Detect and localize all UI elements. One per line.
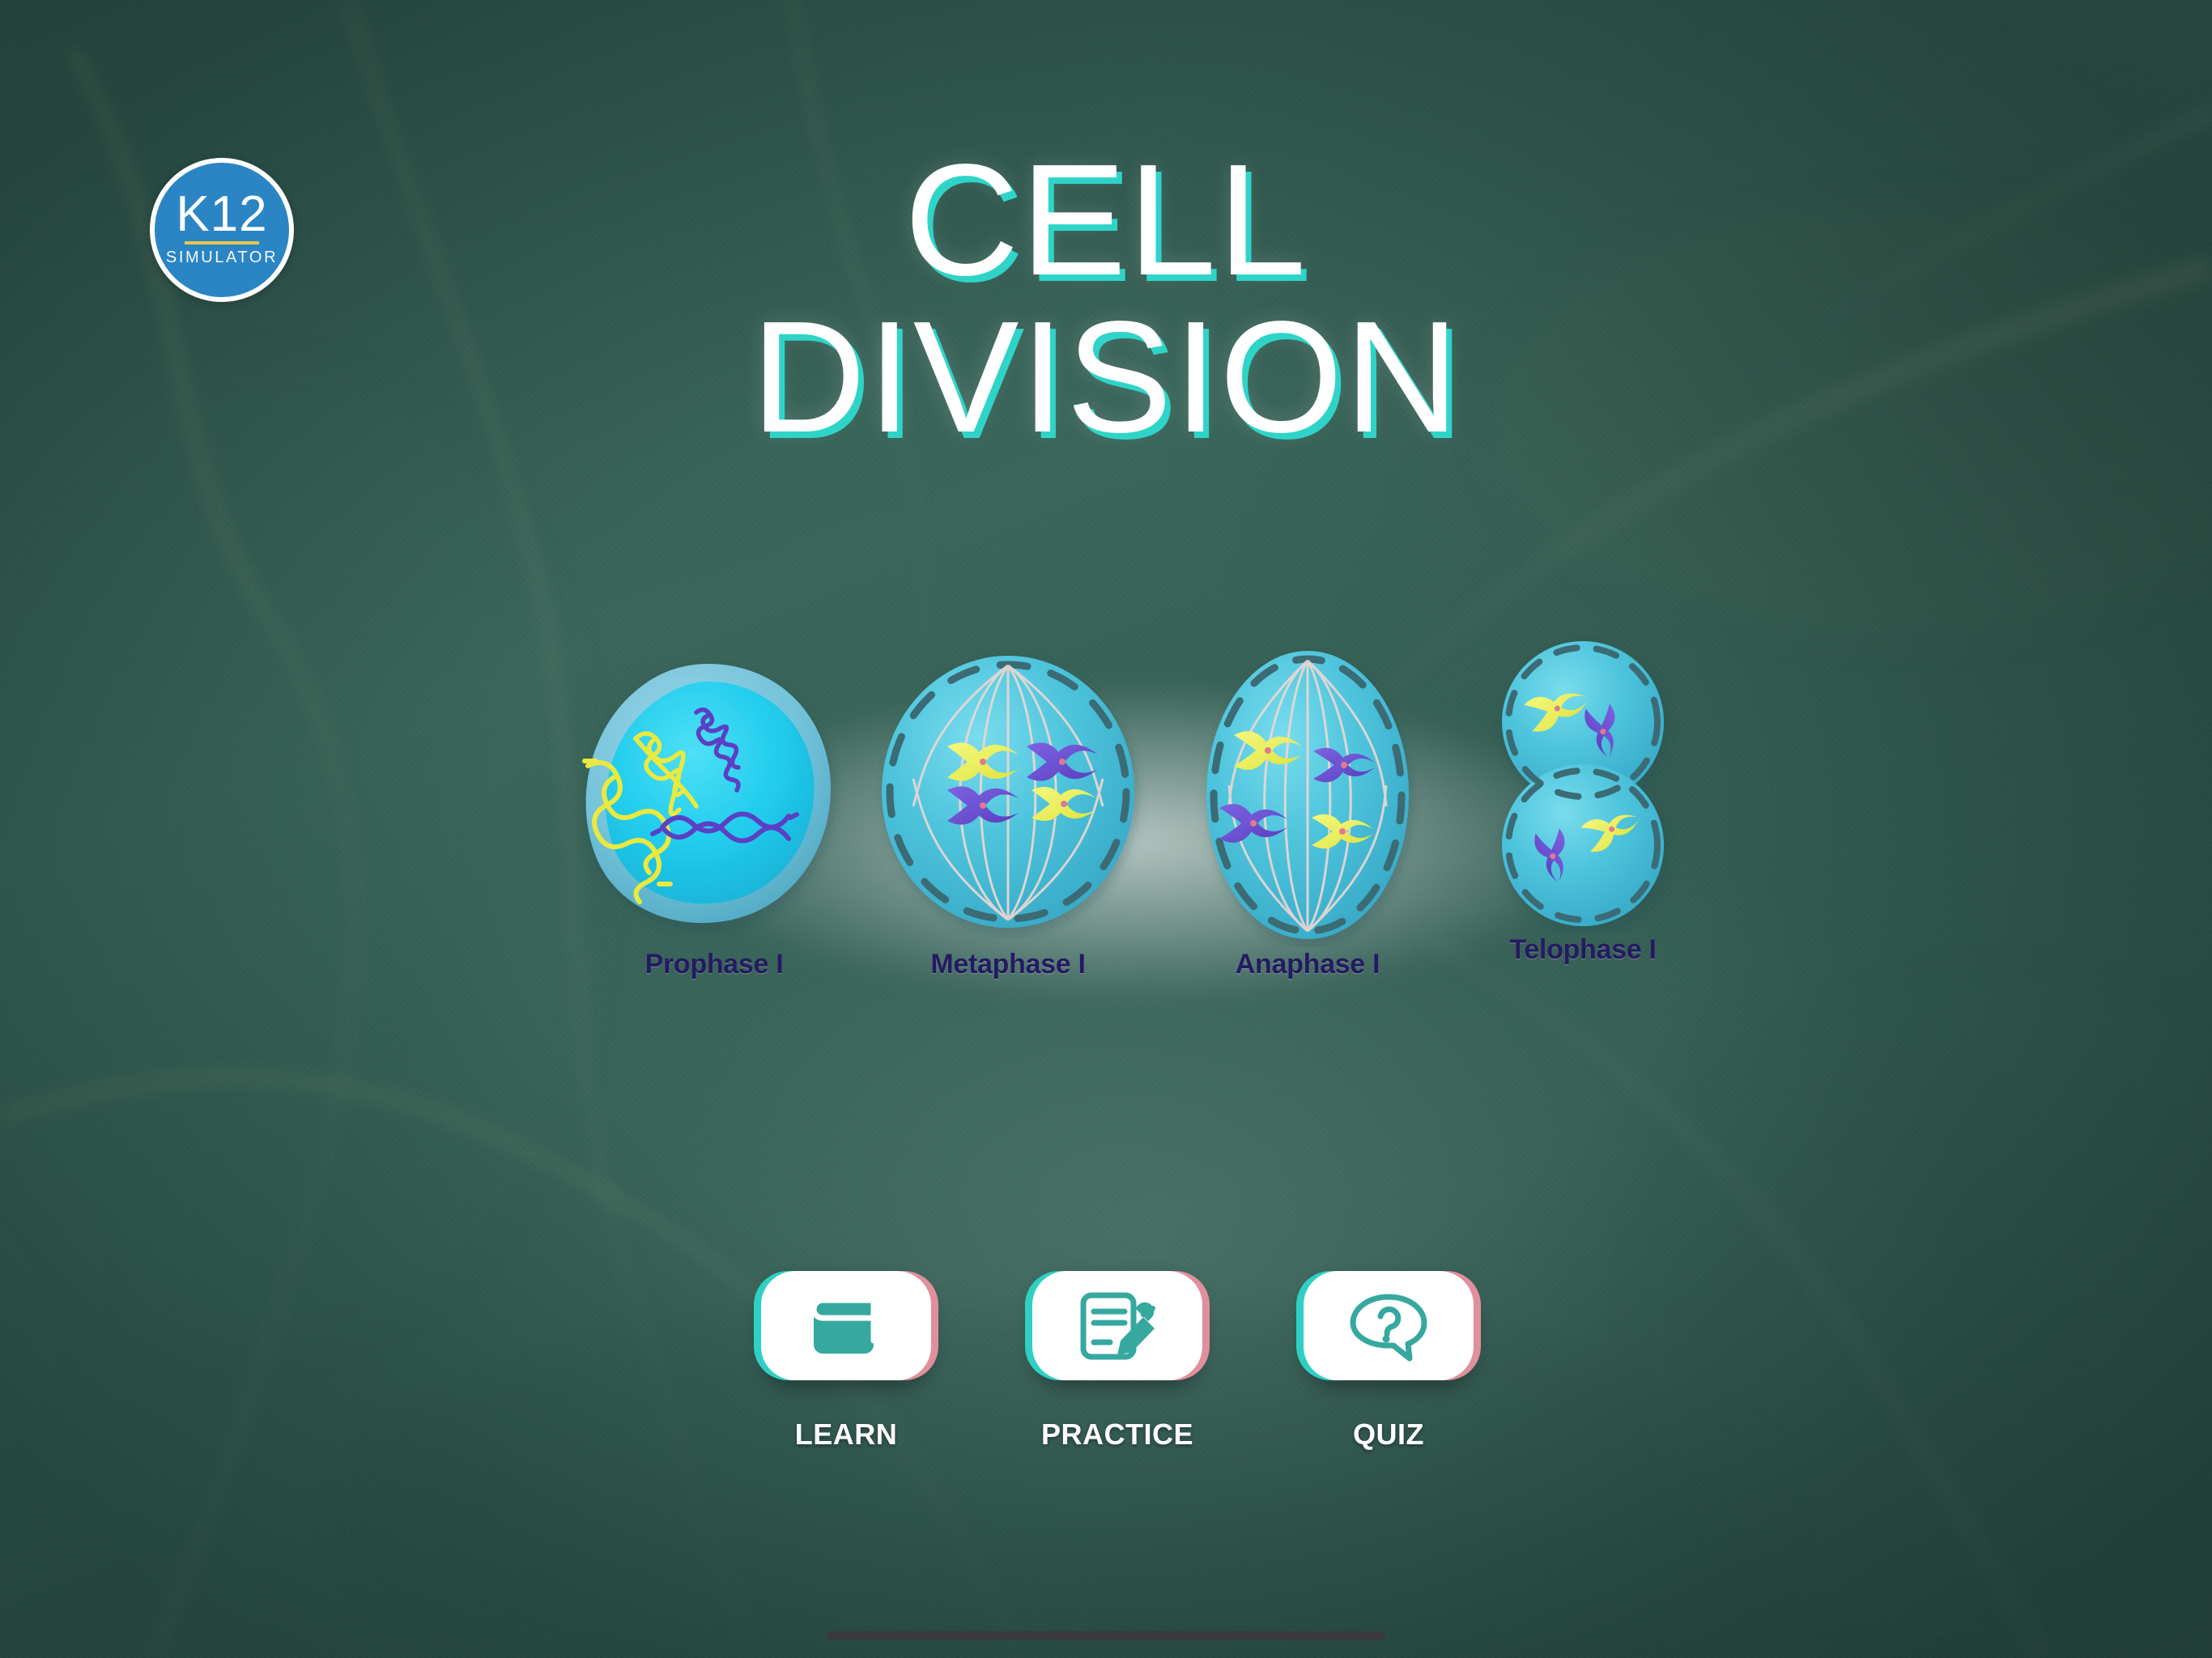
phase-prophase-1[interactable]: Prophase I — [567, 648, 850, 939]
phase-label-anaphase-1: Anaphase I — [1236, 949, 1380, 980]
phase-label-metaphase-1: Metaphase I — [930, 949, 1085, 980]
practice-button-tile[interactable] — [1032, 1271, 1202, 1380]
phase-diagram-row: Prophase I — [567, 648, 1716, 1020]
practice-button[interactable]: PRACTICE — [1032, 1271, 1202, 1452]
k12-simulator-logo[interactable]: K12 SIMULATOR — [150, 158, 294, 302]
anaphase-1-illustration — [1166, 648, 1449, 947]
practice-button-label: PRACTICE — [1032, 1418, 1202, 1452]
logo-subtitle: SIMULATOR — [166, 249, 278, 267]
logo-underline — [185, 241, 259, 244]
notepad-pencil-icon — [1072, 1287, 1163, 1365]
phase-metaphase-1[interactable]: Metaphase I — [850, 648, 1166, 939]
home-indicator[interactable] — [827, 1631, 1385, 1640]
quiz-button[interactable]: QUIZ — [1304, 1271, 1474, 1452]
phase-label-telophase-1: Telophase I — [1509, 934, 1656, 966]
phase-anaphase-1[interactable]: Anaphase I — [1166, 648, 1449, 947]
book-icon — [804, 1287, 888, 1365]
metaphase-1-illustration — [850, 648, 1166, 939]
action-button-row: LEARN PRACTICE QUIZ — [761, 1271, 1474, 1514]
logo-k12-text: K12 — [176, 191, 267, 239]
learn-button-tile[interactable] — [761, 1271, 931, 1380]
quiz-button-label: QUIZ — [1304, 1418, 1474, 1452]
learn-button[interactable]: LEARN — [761, 1271, 931, 1452]
learn-button-label: LEARN — [761, 1418, 931, 1452]
prophase-1-illustration — [567, 648, 850, 939]
question-speech-bubble-icon — [1345, 1289, 1432, 1363]
phase-label-prophase-1: Prophase I — [645, 949, 784, 980]
quiz-button-tile[interactable] — [1304, 1271, 1474, 1380]
telophase-1-illustration — [1449, 633, 1716, 933]
phase-telophase-1[interactable]: Telophase I — [1449, 648, 1716, 933]
